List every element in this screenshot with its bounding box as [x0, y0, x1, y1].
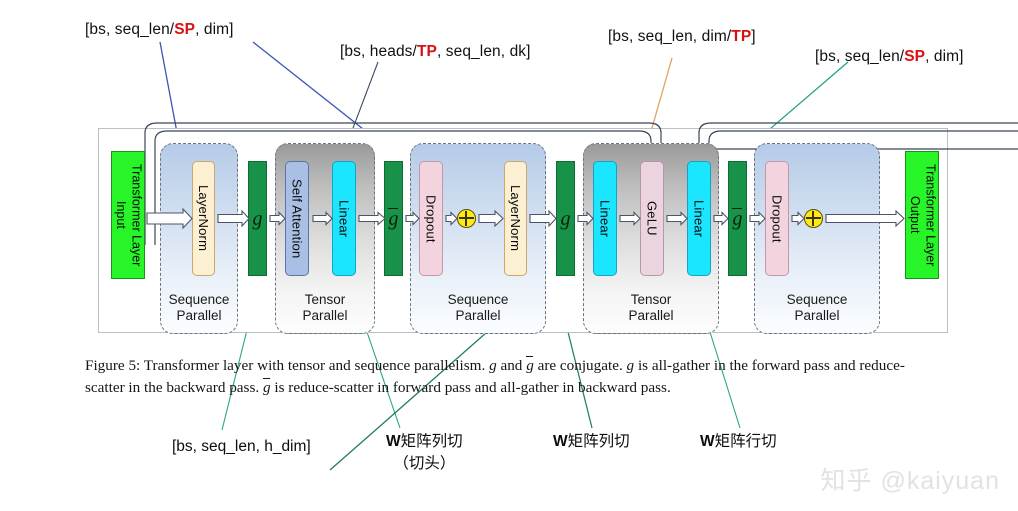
flow-arrow-lin2-gbar2 — [714, 213, 728, 225]
caption-part-3: are conjugate. — [534, 357, 627, 374]
flow-arrow-lin-gelu — [620, 213, 640, 225]
flow-arrow-input — [147, 209, 192, 228]
annotation-h-dim: [bs, seq_len, h_dim] — [172, 436, 311, 458]
annotation-symbol-w: W — [700, 433, 715, 450]
flow-arrow-g-attn — [270, 213, 285, 225]
figure-caption: Figure 5: Transformer layer with tensor … — [85, 355, 930, 398]
annotation-w-column-split: W矩阵列切 — [553, 431, 630, 453]
flow-arrow-ln1-g — [218, 211, 249, 226]
flow-arrow-g2-lin — [578, 213, 593, 225]
caption-part-2: and — [497, 357, 527, 374]
annotation-text: 矩阵列切 — [401, 433, 463, 450]
flow-arrow-ln2-g2 — [530, 211, 556, 226]
annotation-w-row-split: W矩阵行切 — [700, 431, 777, 453]
annotation-symbol-w: W — [386, 433, 401, 450]
flow-arrow-gbar2-drop2 — [750, 213, 765, 225]
caption-part-5: is reduce-scatter in forward pass and al… — [271, 379, 671, 396]
annotation-text: 矩阵列切 — [568, 433, 630, 450]
caption-label: Figure 5: — [85, 357, 140, 374]
annotation-text: [bs, seq_len, h_dim] — [172, 438, 311, 455]
flow-arrow-drop-add — [446, 213, 457, 225]
flow-arrow-drop2-add2 — [792, 213, 804, 225]
flow-arrow-attn-lin — [313, 213, 332, 225]
flow-arrow-lin-gbar — [359, 213, 385, 225]
annotation-symbol-w: W — [553, 433, 568, 450]
annotation-text: 矩阵行切 — [715, 433, 777, 450]
flow-arrow-gelu-lin2 — [667, 213, 687, 225]
flow-arrow-add2-output — [826, 211, 904, 226]
annotation-line-2: （切头） — [386, 453, 463, 475]
caption-symbol-gbar-2: g — [263, 377, 271, 399]
annotation-line-1: W矩阵列切 — [386, 431, 463, 453]
annotation-w-column-split-head: W矩阵列切 （切头） — [386, 431, 463, 476]
dataflow-arrows — [99, 129, 949, 334]
caption-symbol-g-2: g — [627, 357, 635, 374]
flow-arrow-gbar-drop — [406, 213, 419, 225]
figure-diagram-panel: Transformer Layer Input Transformer Laye… — [98, 128, 948, 333]
watermark: 知乎 @kaiyuan — [821, 461, 1001, 497]
flow-arrow-add-ln2 — [479, 211, 503, 226]
caption-part-1: Transformer layer with tensor and sequen… — [140, 357, 489, 374]
caption-symbol-gbar: g — [526, 355, 534, 377]
caption-symbol-g: g — [489, 357, 497, 374]
